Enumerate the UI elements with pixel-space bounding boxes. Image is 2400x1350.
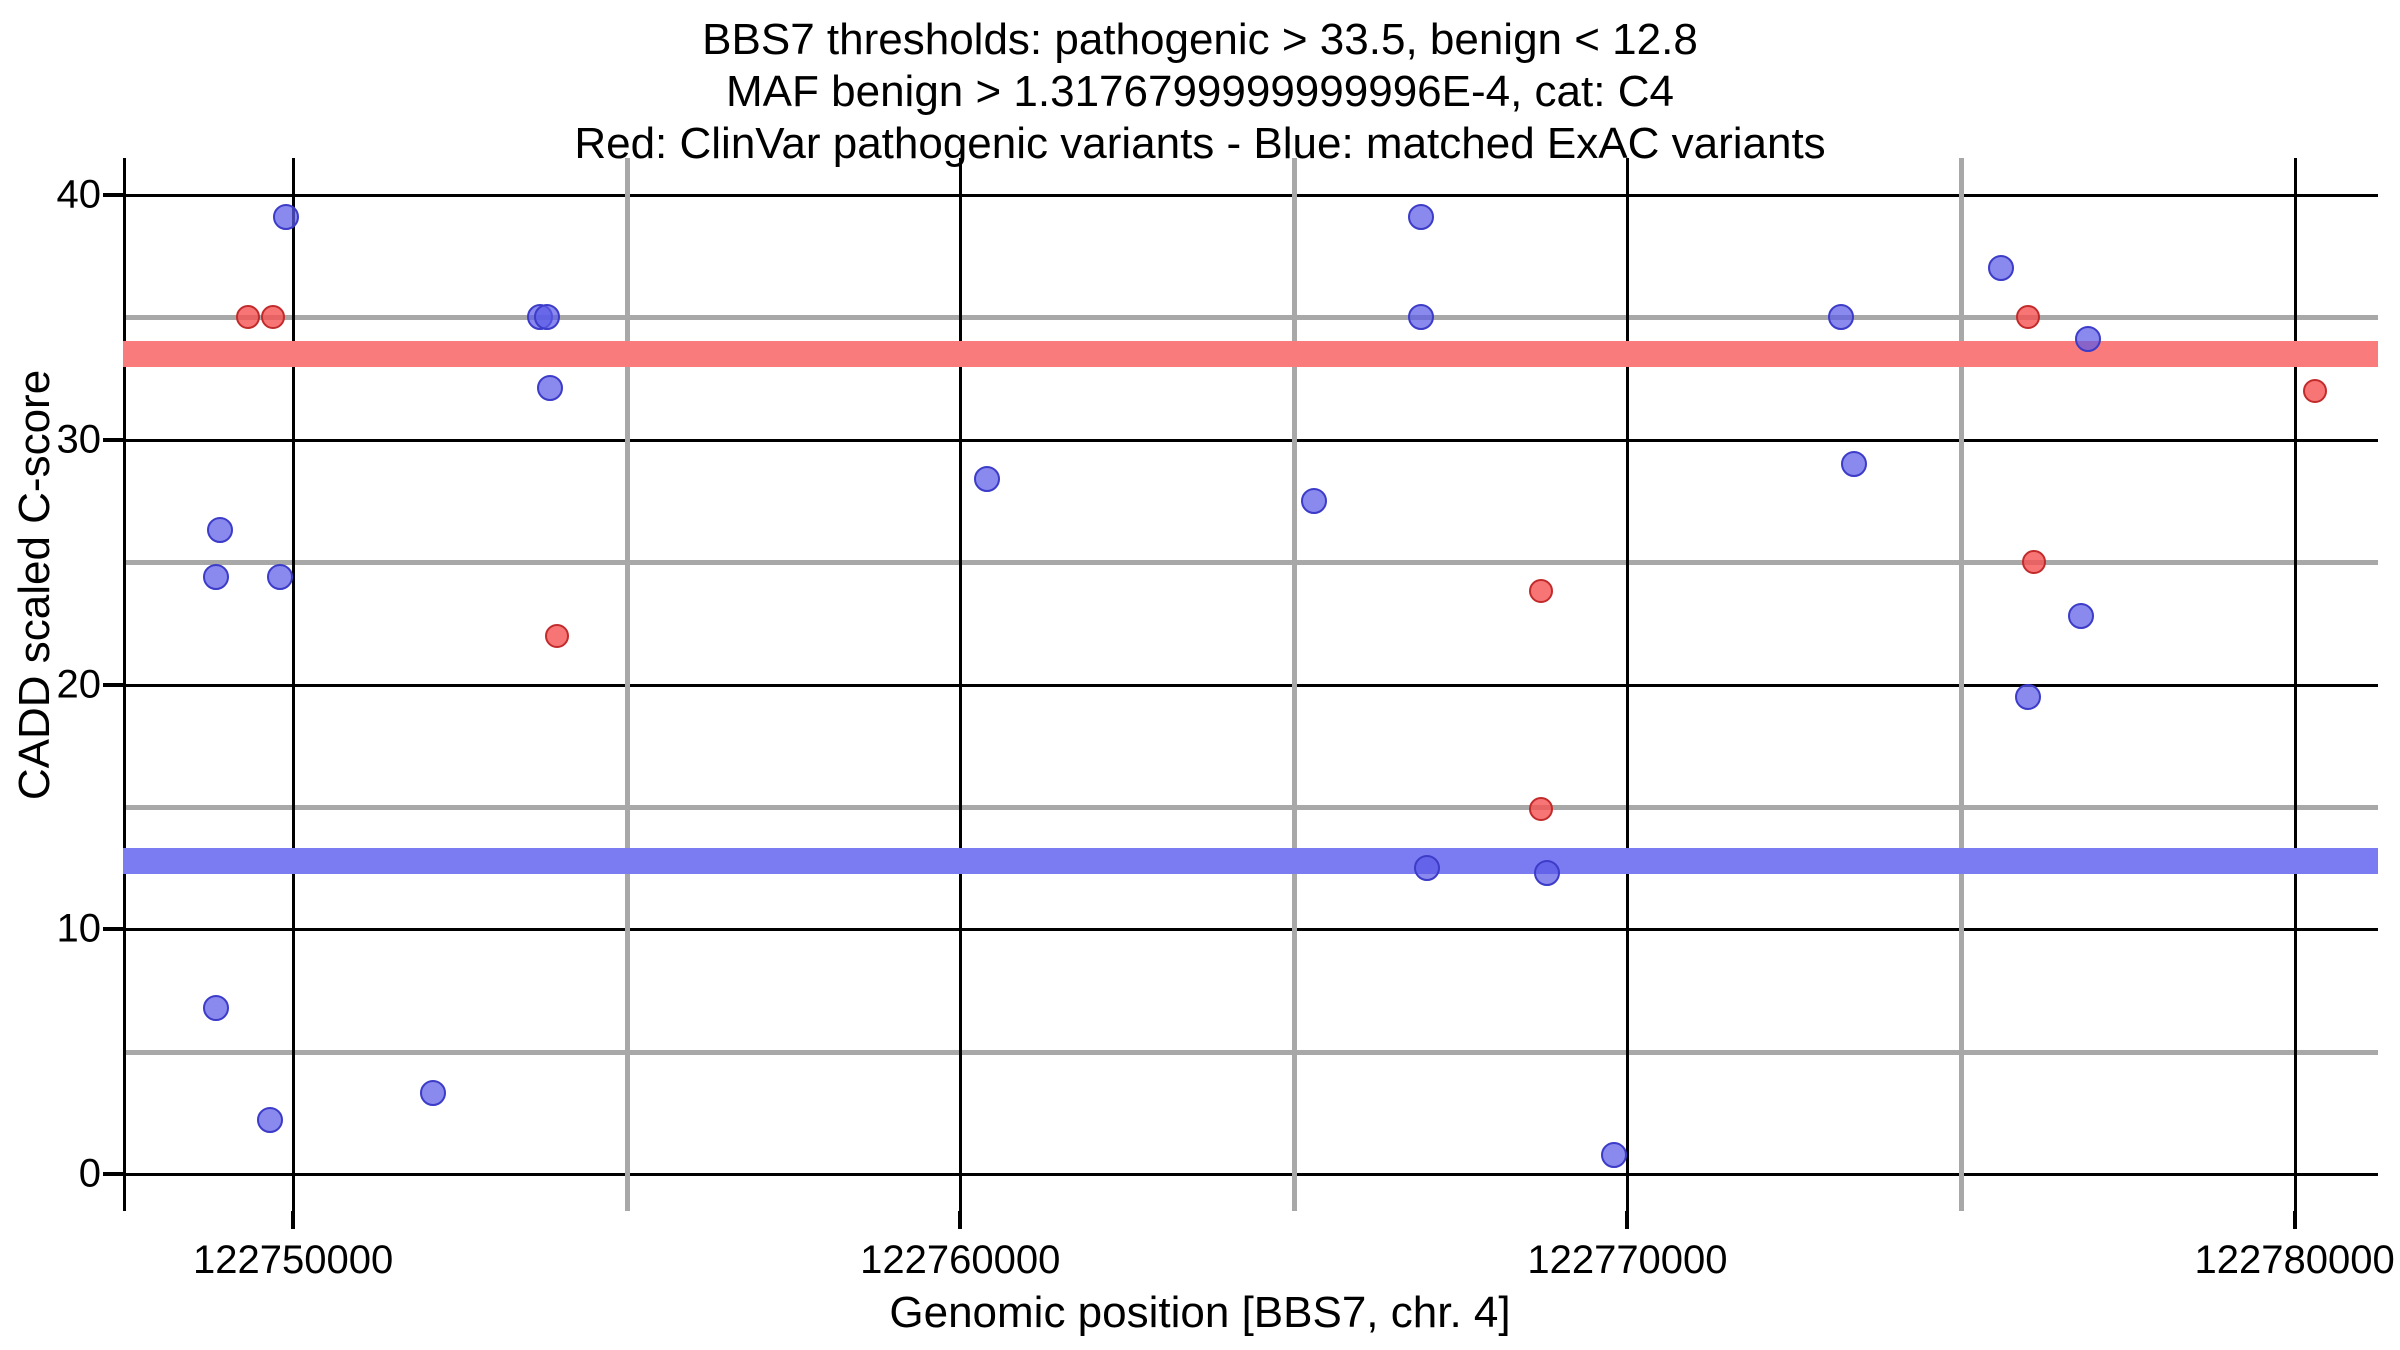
axis-tickline-horizontal (123, 684, 2378, 687)
data-point-exac (207, 517, 233, 543)
x-tick-label: 122780000 (2194, 1238, 2394, 1283)
data-point-exac (420, 1080, 446, 1106)
gridline-horizontal (123, 805, 2378, 810)
x-tick-mark (2293, 1211, 2297, 1229)
axis-tickline-horizontal (123, 194, 2378, 197)
data-point-exac (203, 995, 229, 1021)
title-line-1: BBS7 thresholds: pathogenic > 33.5, beni… (0, 14, 2400, 66)
axis-tickline-horizontal (123, 439, 2378, 442)
data-point-pathogenic (2016, 305, 2040, 329)
x-tick-label: 122750000 (193, 1238, 393, 1283)
x-tick-mark (1625, 1211, 1629, 1229)
axis-tickline-vertical (959, 158, 962, 1211)
y-axis-label: CADD scaled C-score (10, 205, 60, 965)
data-point-exac (1534, 860, 1560, 886)
data-point-exac (203, 564, 229, 590)
y-tick-label: 40 (57, 172, 102, 217)
data-point-exac (1841, 451, 1867, 477)
data-point-exac (537, 375, 563, 401)
chart-canvas: BBS7 thresholds: pathogenic > 33.5, beni… (0, 0, 2400, 1350)
data-point-pathogenic (261, 305, 285, 329)
axis-tickline-vertical (292, 158, 295, 1211)
y-tick-mark (103, 683, 123, 687)
data-point-pathogenic (2022, 550, 2046, 574)
x-tick-label: 122770000 (1527, 1238, 1727, 1283)
axis-tickline-horizontal (123, 928, 2378, 931)
y-axis-spine (123, 158, 126, 1211)
chart-title: BBS7 thresholds: pathogenic > 33.5, beni… (0, 14, 2400, 170)
data-point-exac (1408, 204, 1434, 230)
title-line-3: Red: ClinVar pathogenic variants - Blue:… (0, 118, 2400, 170)
data-point-exac (1601, 1142, 1627, 1168)
gridline-vertical (1959, 158, 1964, 1211)
data-point-exac (2075, 326, 2101, 352)
y-tick-mark (103, 927, 123, 931)
title-line-2: MAF benign > 1.3176799999999996E-4, cat:… (0, 66, 2400, 118)
data-point-exac (974, 466, 1000, 492)
data-point-exac (1414, 855, 1440, 881)
axis-tickline-horizontal (123, 1173, 2378, 1176)
x-tick-label: 122760000 (860, 1238, 1060, 1283)
data-point-pathogenic (2303, 379, 2327, 403)
x-tick-mark (291, 1211, 295, 1229)
x-axis-label: Genomic position [BBS7, chr. 4] (0, 1288, 2400, 1338)
y-tick-mark (103, 193, 123, 197)
axis-tickline-vertical (2294, 158, 2297, 1211)
data-point-exac (1408, 304, 1434, 330)
y-tick-label: 10 (57, 907, 102, 952)
data-point-pathogenic (1529, 797, 1553, 821)
pathogenic-threshold-band (123, 341, 2378, 367)
gridline-horizontal (123, 315, 2378, 320)
data-point-exac (267, 564, 293, 590)
data-point-exac (2068, 603, 2094, 629)
data-point-exac (534, 304, 560, 330)
x-tick-mark (958, 1211, 962, 1229)
y-tick-mark (103, 438, 123, 442)
gridline-horizontal (123, 1050, 2378, 1055)
data-point-exac (257, 1107, 283, 1133)
y-tick-label: 0 (79, 1152, 101, 1197)
data-point-pathogenic (1529, 579, 1553, 603)
gridline-vertical (1292, 158, 1297, 1211)
y-tick-label: 20 (57, 662, 102, 707)
data-point-exac (1301, 488, 1327, 514)
data-point-exac (1828, 304, 1854, 330)
data-point-exac (1988, 255, 2014, 281)
data-point-pathogenic (236, 305, 260, 329)
axis-tickline-vertical (1626, 158, 1629, 1211)
y-tick-mark (103, 1172, 123, 1176)
data-point-pathogenic (545, 624, 569, 648)
benign-threshold-band (123, 848, 2378, 874)
data-point-exac (273, 204, 299, 230)
y-tick-label: 30 (57, 417, 102, 462)
data-point-exac (2015, 684, 2041, 710)
gridline-vertical (625, 158, 630, 1211)
